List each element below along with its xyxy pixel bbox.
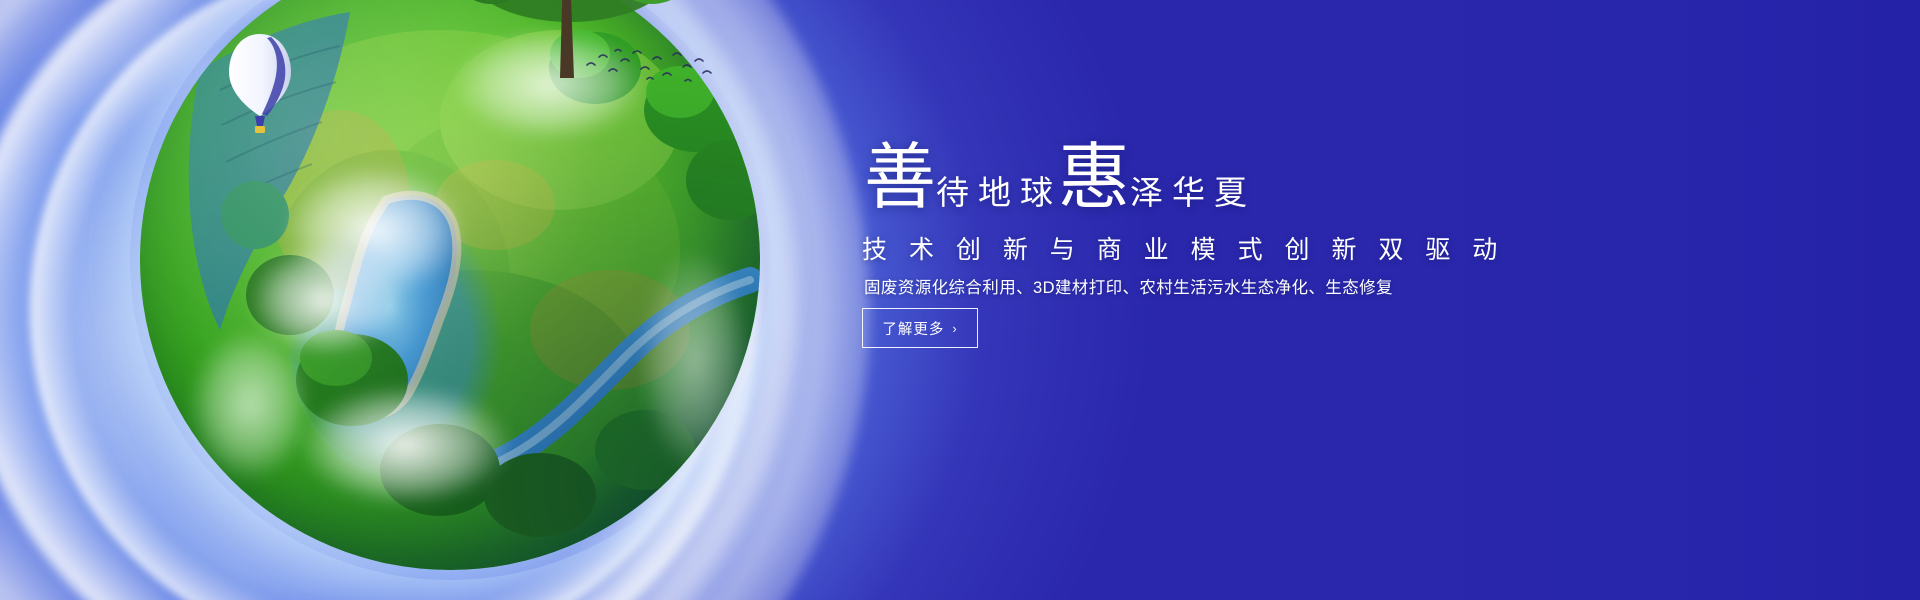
hero-tagline: 固废资源化综合利用、3D建材打印、农村生活污水生态净化、生态修复: [864, 274, 1920, 298]
learn-more-label: 了解更多: [882, 318, 944, 339]
hero-headline: 善 待地球 惠 泽华夏: [862, 136, 1920, 236]
hero-copy: 善 待地球 惠 泽华夏 技 术 创 新 与 商 业 模 式 创 新 双 驱 动 …: [862, 0, 1920, 600]
headline-lead-char-two: 惠: [1058, 142, 1130, 214]
learn-more-button[interactable]: 了解更多 ›: [862, 308, 978, 348]
hot-air-balloon-icon: [225, 30, 295, 140]
headline-rest-one: 待地球: [936, 178, 1062, 211]
flying-birds-icon: [585, 45, 715, 90]
headline-lead-char-one: 善: [864, 142, 936, 214]
headline-rest-two: 泽华夏: [1130, 178, 1256, 211]
hero-banner: 善 待地球 惠 泽华夏 技 术 创 新 与 商 业 模 式 创 新 双 驱 动 …: [0, 0, 1920, 600]
hero-subtitle: 技 术 创 新 与 商 业 模 式 创 新 双 驱 动: [862, 230, 1920, 266]
chevron-right-icon: ›: [952, 321, 957, 336]
